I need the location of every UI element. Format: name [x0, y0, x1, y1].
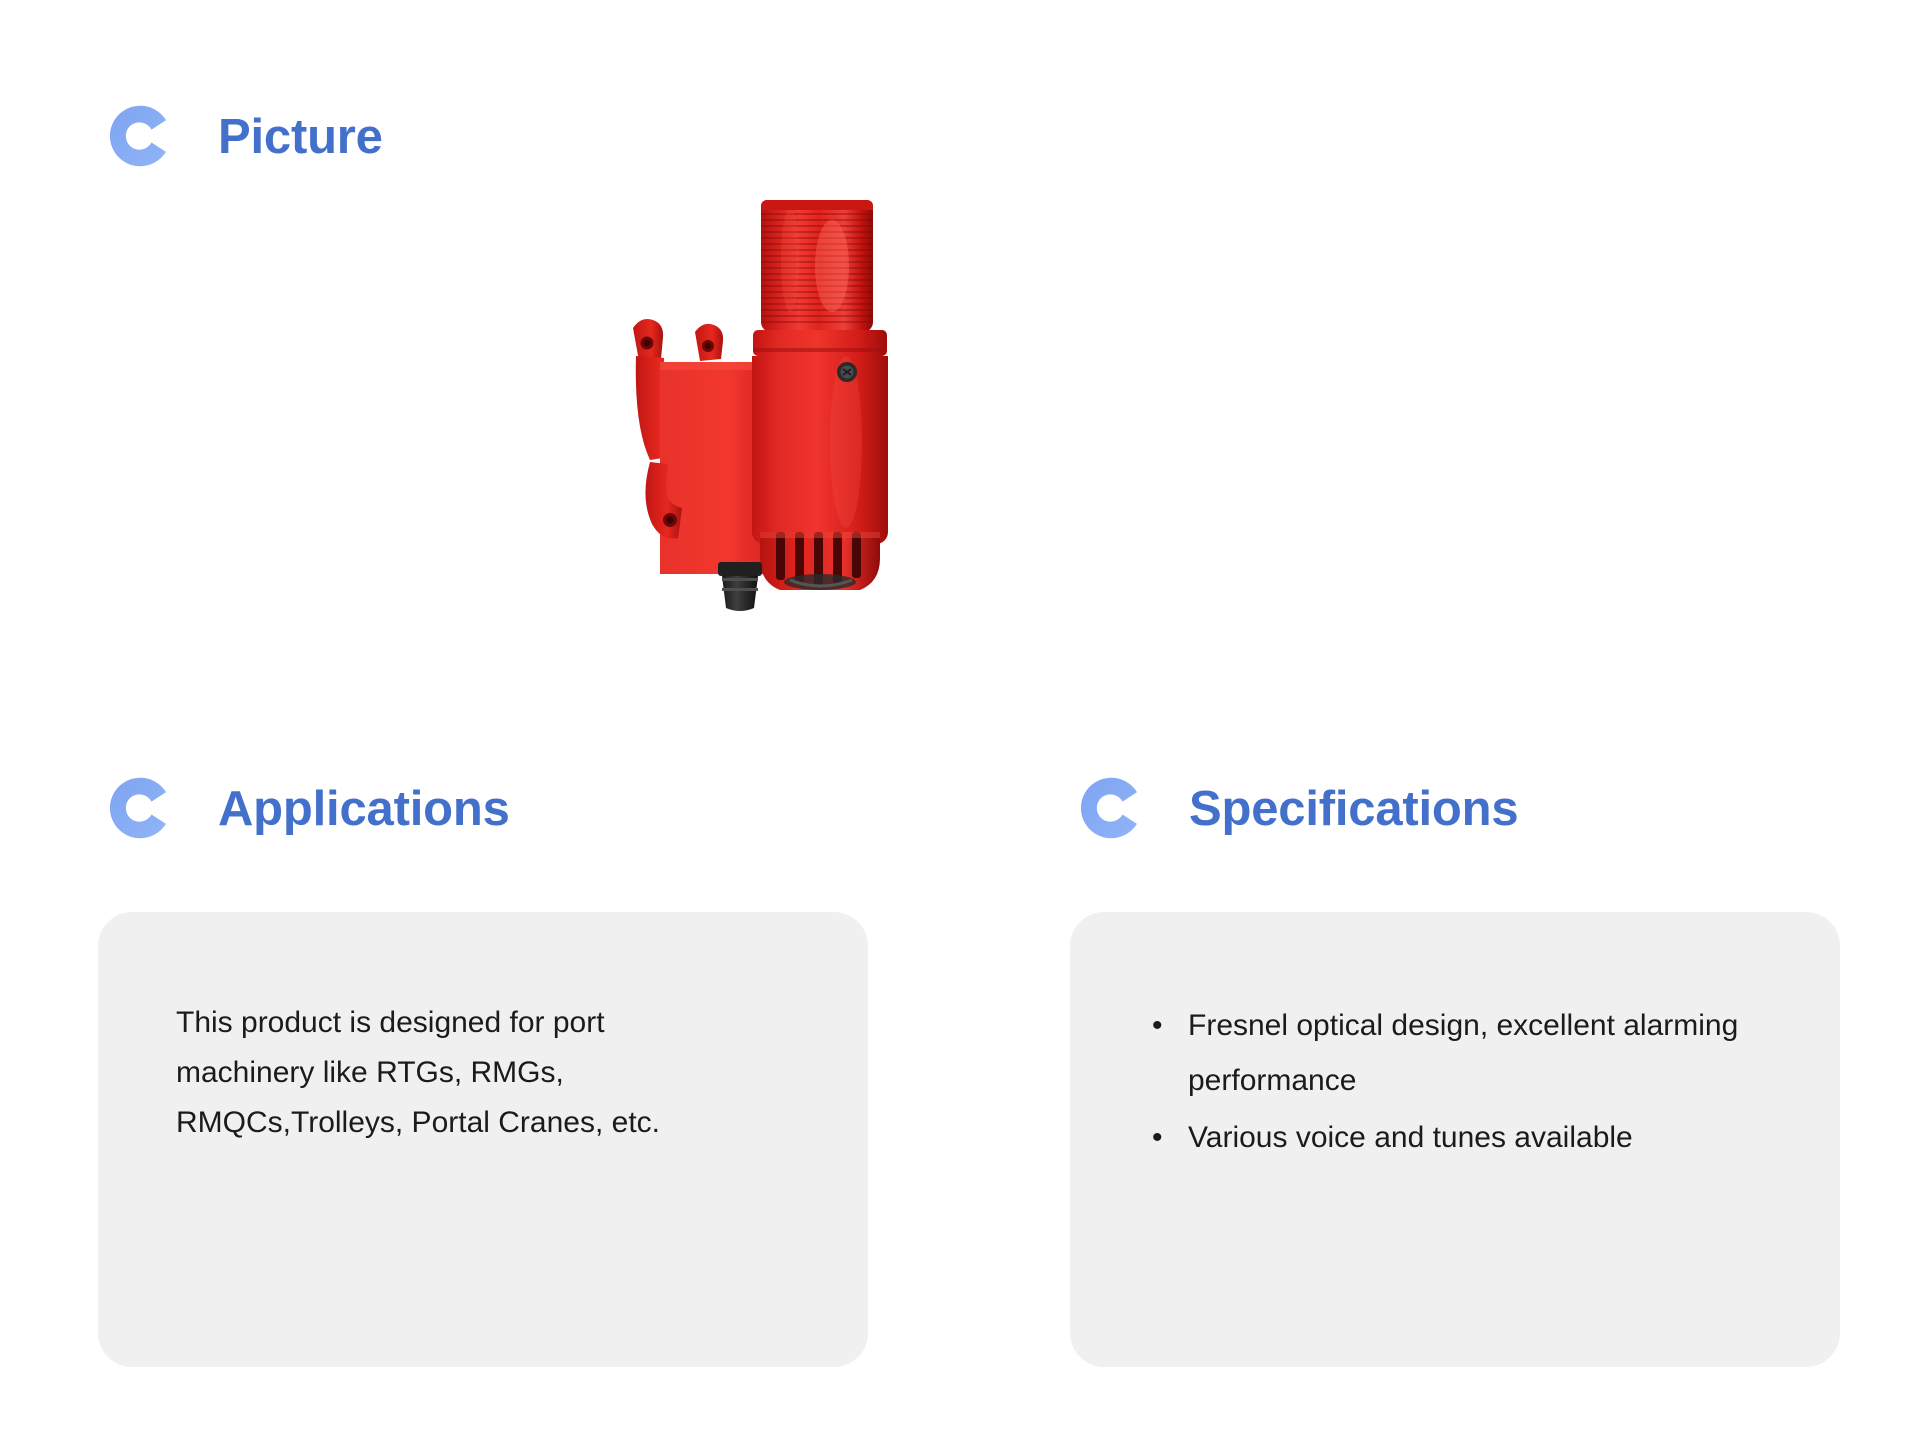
bullet-marker-icon: •	[1152, 1110, 1163, 1165]
page-title: Picture	[218, 113, 383, 162]
slide-root: Picture	[0, 0, 1920, 1440]
specification-bullet-1: •Fresnel optical design, excellent alarm…	[1148, 998, 1788, 1108]
specification-bullet-2: •Various voice and tunes available	[1148, 1110, 1788, 1165]
applications-card: This product is designed for port machin…	[98, 912, 868, 1367]
specification-bullet-text: Fresnel optical design, excellent alarmi…	[1188, 1009, 1738, 1097]
bullet-marker-icon: •	[1152, 998, 1163, 1053]
applications-text: This product is designed for port machin…	[176, 998, 736, 1148]
section-heading-picture: Picture	[104, 100, 383, 172]
specifications-bullet-list: •Fresnel optical design, excellent alarm…	[1148, 998, 1794, 1165]
c-logo-icon	[104, 772, 176, 844]
product-photo-beacon-sounder	[600, 180, 1020, 630]
section-heading-applications: Applications	[104, 772, 510, 844]
applications-title: Applications	[218, 785, 510, 834]
section-heading-specifications: Specifications	[1075, 772, 1518, 844]
specifications-card-body: •Fresnel optical design, excellent alarm…	[1070, 912, 1840, 1167]
applications-card-body: This product is designed for port machin…	[98, 912, 868, 1148]
specifications-card: •Fresnel optical design, excellent alarm…	[1070, 912, 1840, 1367]
specification-bullet-text: Various voice and tunes available	[1188, 1121, 1633, 1154]
specifications-title: Specifications	[1189, 785, 1518, 834]
c-logo-icon	[1075, 772, 1147, 844]
c-logo-icon	[104, 100, 176, 172]
